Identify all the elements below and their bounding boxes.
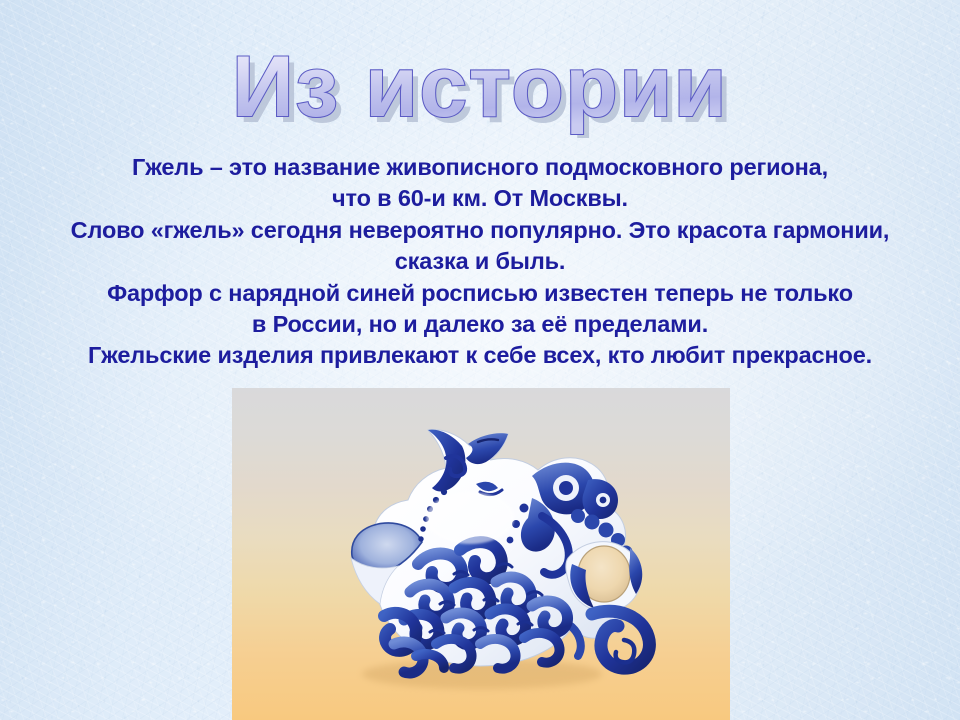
body-line-1: Гжель – это название живописного подмоск… [0,152,960,183]
title-wordart: Из истории Из истории [170,34,790,138]
glaze-highlight [426,492,514,544]
gzhel-porcelain-image [232,388,730,720]
body-line-3: Слово «гжель» сегодня невероятно популяр… [0,215,960,246]
accent-dot [520,504,529,513]
body-line-2: что в 60-и км. От Москвы. [0,183,960,214]
page-title: Из истории Из истории [0,34,960,138]
body-line-6: в России, но и далеко за её пределами. [0,309,960,340]
accent-dot [507,537,514,544]
slide: Из истории Из истории Гжель – это назван… [0,0,960,720]
body-line-7: Гжельские изделия привлекают к себе всех… [0,340,960,371]
body-line-4: сказка и быль. [0,246,960,277]
gzhel-bird-pitcher-illustration [232,388,730,720]
body-paragraph: Гжель – это название живописного подмоск… [0,152,960,372]
body-line-5: Фарфор с нарядной синей росписью известе… [0,278,960,309]
title-text: Из истории [232,39,728,135]
